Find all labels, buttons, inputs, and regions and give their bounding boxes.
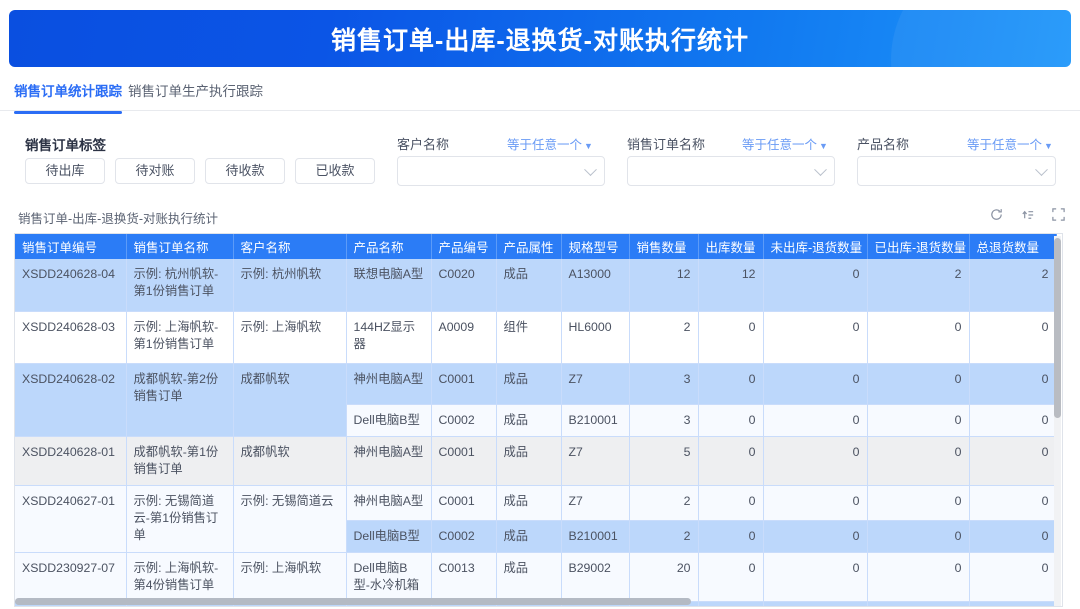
filter-operator-sales-order-name[interactable]: 等于任意一个▼ bbox=[742, 134, 828, 153]
cell-out-qty: 0 bbox=[698, 485, 763, 520]
cell-total-return: 0 bbox=[969, 311, 1056, 363]
cell-out-return: 0 bbox=[867, 485, 969, 520]
refresh-icon[interactable] bbox=[989, 207, 1004, 222]
col-order-name[interactable]: 销售订单名称 bbox=[126, 234, 233, 259]
table-body: XSDD240628-04示例: 杭州帆软-第1份销售订单示例: 杭州帆软联想电… bbox=[15, 259, 1056, 607]
cell-out-qty: 0 bbox=[698, 404, 763, 436]
cell-not-out-return: 0 bbox=[763, 259, 867, 311]
cell-product-no: C0020 bbox=[431, 259, 496, 311]
cell-out-return: 2 bbox=[867, 259, 969, 311]
cell-product-attr: 成品 bbox=[496, 404, 561, 436]
cell-product-attr: 成品 bbox=[496, 552, 561, 601]
cell-order-no: XSDD240628-03 bbox=[15, 311, 126, 363]
table-header-row: 销售订单编号 销售订单名称 客户名称 产品名称 产品编号 产品属性 规格型号 销… bbox=[15, 234, 1056, 259]
cell-order-no: XSDD240627-01 bbox=[15, 485, 126, 552]
cell-total-return: 0 bbox=[969, 520, 1056, 552]
cell-not-out-return: 0 bbox=[763, 436, 867, 485]
cell-spec: B210001 bbox=[561, 404, 629, 436]
cell-product-name: 神州电脑A型 bbox=[346, 485, 431, 520]
cell-product-attr: 组件 bbox=[496, 311, 561, 363]
tab-bar: 销售订单统计跟踪 销售订单生产执行跟踪 bbox=[0, 78, 1080, 111]
cell-product-name: 神州电脑A型 bbox=[346, 363, 431, 404]
table-row[interactable]: XSDD240628-02成都帆软-第2份销售订单成都帆软神州电脑A型C0001… bbox=[15, 363, 1056, 404]
cell-product-attr: 成品 bbox=[496, 259, 561, 311]
col-customer[interactable]: 客户名称 bbox=[233, 234, 346, 259]
cell-out-qty: 0 bbox=[698, 552, 763, 601]
cell-order-no: XSDD240628-01 bbox=[15, 436, 126, 485]
vertical-scrollbar[interactable] bbox=[1054, 236, 1061, 606]
cell-order-name: 成都帆软-第1份销售订单 bbox=[126, 436, 233, 485]
filter-label-customer-name: 客户名称 bbox=[397, 134, 449, 153]
cell-product-attr: 成品 bbox=[496, 436, 561, 485]
cell-sale-qty: 2 bbox=[629, 485, 698, 520]
cell-customer: 示例: 上海帆软 bbox=[233, 552, 346, 601]
col-spec[interactable]: 规格型号 bbox=[561, 234, 629, 259]
cell-order-name: 示例: 上海帆软-第4份销售订单 bbox=[126, 552, 233, 601]
cell-customer: 示例: 杭州帆软 bbox=[233, 259, 346, 311]
tag-button-group: 待出库 待对账 待收款 已收款 bbox=[25, 158, 375, 184]
sort-icon[interactable] bbox=[1020, 207, 1035, 222]
filter-operator-text: 等于任意一个 bbox=[967, 138, 1042, 152]
filter-operator-product-name[interactable]: 等于任意一个▼ bbox=[967, 134, 1053, 153]
cell-customer: 成都帆软 bbox=[233, 436, 346, 485]
cell-out-return: 0 bbox=[867, 363, 969, 404]
cell-not-out-return: 0 bbox=[763, 485, 867, 520]
cell-not-out-return: 0 bbox=[763, 311, 867, 363]
cell-total-return: 0 bbox=[969, 404, 1056, 436]
tag-button-pending-outbound[interactable]: 待出库 bbox=[25, 158, 105, 184]
cell-order-no: XSDD240628-04 bbox=[15, 259, 126, 311]
tab-sales-order-statistics[interactable]: 销售订单统计跟踪 bbox=[14, 82, 122, 110]
cell-order-name: 示例: 上海帆软-第1份销售订单 bbox=[126, 311, 233, 363]
cell-product-no: C0001 bbox=[431, 485, 496, 520]
cell-spec: Z7 bbox=[561, 436, 629, 485]
tag-button-paid[interactable]: 已收款 bbox=[295, 158, 375, 184]
page-banner: 销售订单-出库-退换货-对账执行统计 bbox=[9, 10, 1071, 67]
cell-order-name: 成都帆软-第2份销售订单 bbox=[126, 363, 233, 436]
cell-not-out-return: 0 bbox=[763, 552, 867, 601]
col-not-out-return[interactable]: 未出库-退货数量 bbox=[763, 234, 867, 259]
col-out-return[interactable]: 已出库-退货数量 bbox=[867, 234, 969, 259]
col-out-qty[interactable]: 出库数量 bbox=[698, 234, 763, 259]
horizontal-scrollbar[interactable] bbox=[15, 598, 1056, 605]
cell-out-qty: 12 bbox=[698, 259, 763, 311]
cell-product-attr: 成品 bbox=[496, 520, 561, 552]
cell-product-name: 神州电脑A型 bbox=[346, 436, 431, 485]
col-sale-qty[interactable]: 销售数量 bbox=[629, 234, 698, 259]
table-caption: 销售订单-出库-退换货-对账执行统计 bbox=[18, 208, 218, 227]
cell-product-name: Dell电脑B型-水冷机箱 bbox=[346, 552, 431, 601]
filter-select-sales-order-name[interactable] bbox=[627, 156, 835, 186]
cell-spec: A13000 bbox=[561, 259, 629, 311]
cell-not-out-return: 0 bbox=[763, 404, 867, 436]
chevron-down-icon bbox=[814, 163, 827, 176]
chevron-down-icon bbox=[584, 163, 597, 176]
chevron-down-icon bbox=[1035, 163, 1048, 176]
cell-out-return: 0 bbox=[867, 552, 969, 601]
cell-product-no: C0001 bbox=[431, 436, 496, 485]
cell-sale-qty: 2 bbox=[629, 520, 698, 552]
cell-total-return: 0 bbox=[969, 552, 1056, 601]
cell-sale-qty: 12 bbox=[629, 259, 698, 311]
cell-out-return: 0 bbox=[867, 436, 969, 485]
cell-customer: 示例: 上海帆软 bbox=[233, 311, 346, 363]
tab-sales-order-production[interactable]: 销售订单生产执行跟踪 bbox=[128, 82, 263, 110]
cell-customer: 示例: 无锡简道云 bbox=[233, 485, 346, 552]
chevron-down-icon: ▼ bbox=[819, 141, 828, 151]
data-grid[interactable]: 销售订单编号 销售订单名称 客户名称 产品名称 产品编号 产品属性 规格型号 销… bbox=[14, 233, 1063, 607]
cell-order-name: 示例: 杭州帆软-第1份销售订单 bbox=[126, 259, 233, 311]
cell-product-attr: 成品 bbox=[496, 485, 561, 520]
col-total-return[interactable]: 总退货数量 bbox=[969, 234, 1056, 259]
cell-spec: B29002 bbox=[561, 552, 629, 601]
cell-product-no: C0002 bbox=[431, 404, 496, 436]
chevron-down-icon: ▼ bbox=[584, 141, 593, 151]
page-title: 销售订单-出库-退换货-对账执行统计 bbox=[9, 21, 1071, 57]
cell-product-no: C0002 bbox=[431, 520, 496, 552]
cell-product-no: C0013 bbox=[431, 552, 496, 601]
cell-spec: HL6000 bbox=[561, 311, 629, 363]
cell-product-name: Dell电脑B型 bbox=[346, 520, 431, 552]
filter-bar: 销售订单标签 待出库 待对账 待收款 已收款 客户名称 等于任意一个▼ 销售订单… bbox=[0, 120, 1080, 200]
cell-order-no: XSDD230927-07 bbox=[15, 552, 126, 601]
table-row[interactable]: XSDD240627-01示例: 无锡简道云-第1份销售订单示例: 无锡简道云神… bbox=[15, 485, 1056, 520]
cell-sale-qty: 3 bbox=[629, 363, 698, 404]
cell-product-no: C0001 bbox=[431, 363, 496, 404]
cell-total-return: 0 bbox=[969, 485, 1056, 520]
cell-spec: Z7 bbox=[561, 363, 629, 404]
cell-sale-qty: 3 bbox=[629, 404, 698, 436]
cell-sale-qty: 20 bbox=[629, 552, 698, 601]
vertical-scroll-thumb[interactable] bbox=[1054, 238, 1061, 418]
filter-label-sales-order-name: 销售订单名称 bbox=[627, 134, 705, 153]
table-row[interactable]: XSDD230927-07示例: 上海帆软-第4份销售订单示例: 上海帆软Del… bbox=[15, 552, 1056, 601]
cell-not-out-return: 0 bbox=[763, 520, 867, 552]
cell-order-name: 示例: 无锡简道云-第1份销售订单 bbox=[126, 485, 233, 552]
cell-out-return: 0 bbox=[867, 311, 969, 363]
tag-button-pending-reconcile[interactable]: 待对账 bbox=[115, 158, 195, 184]
horizontal-scroll-thumb[interactable] bbox=[15, 598, 691, 605]
table-toolbar bbox=[989, 207, 1066, 222]
cell-spec: B210001 bbox=[561, 520, 629, 552]
cell-out-qty: 0 bbox=[698, 363, 763, 404]
cell-sale-qty: 2 bbox=[629, 311, 698, 363]
col-order-no[interactable]: 销售订单编号 bbox=[15, 234, 126, 259]
filter-label-product-name: 产品名称 bbox=[857, 134, 909, 153]
cell-total-return: 2 bbox=[969, 259, 1056, 311]
fullscreen-icon[interactable] bbox=[1051, 207, 1066, 222]
table-row[interactable]: XSDD240628-03示例: 上海帆软-第1份销售订单示例: 上海帆软144… bbox=[15, 311, 1056, 363]
cell-customer: 成都帆软 bbox=[233, 363, 346, 436]
cell-out-qty: 0 bbox=[698, 520, 763, 552]
filter-select-product-name[interactable] bbox=[857, 156, 1056, 186]
table-row[interactable]: XSDD240628-01成都帆软-第1份销售订单成都帆软神州电脑A型C0001… bbox=[15, 436, 1056, 485]
cell-out-return: 0 bbox=[867, 404, 969, 436]
filter-operator-text: 等于任意一个 bbox=[507, 138, 582, 152]
sales-order-tag-label: 销售订单标签 bbox=[25, 134, 106, 154]
cell-product-name: 144HZ显示器 bbox=[346, 311, 431, 363]
cell-product-attr: 成品 bbox=[496, 363, 561, 404]
app-root: 销售订单-出库-退换货-对账执行统计 销售订单统计跟踪 销售订单生产执行跟踪 销… bbox=[0, 0, 1080, 609]
filter-operator-customer-name[interactable]: 等于任意一个▼ bbox=[507, 134, 593, 153]
cell-out-return: 0 bbox=[867, 520, 969, 552]
table-row[interactable]: XSDD240628-04示例: 杭州帆软-第1份销售订单示例: 杭州帆软联想电… bbox=[15, 259, 1056, 311]
filter-operator-text: 等于任意一个 bbox=[742, 138, 817, 152]
cell-total-return: 0 bbox=[969, 363, 1056, 404]
col-product-no[interactable]: 产品编号 bbox=[431, 234, 496, 259]
cell-product-name: Dell电脑B型 bbox=[346, 404, 431, 436]
tag-button-pending-payment[interactable]: 待收款 bbox=[205, 158, 285, 184]
cell-out-qty: 0 bbox=[698, 311, 763, 363]
cell-not-out-return: 0 bbox=[763, 363, 867, 404]
cell-product-name: 联想电脑A型 bbox=[346, 259, 431, 311]
cell-sale-qty: 5 bbox=[629, 436, 698, 485]
filter-select-customer-name[interactable] bbox=[397, 156, 605, 186]
cell-total-return: 0 bbox=[969, 436, 1056, 485]
cell-out-qty: 0 bbox=[698, 436, 763, 485]
statistics-table: 销售订单编号 销售订单名称 客户名称 产品名称 产品编号 产品属性 规格型号 销… bbox=[15, 234, 1057, 607]
col-product-name[interactable]: 产品名称 bbox=[346, 234, 431, 259]
cell-spec: Z7 bbox=[561, 485, 629, 520]
cell-order-no: XSDD240628-02 bbox=[15, 363, 126, 436]
cell-product-no: A0009 bbox=[431, 311, 496, 363]
col-product-attr[interactable]: 产品属性 bbox=[496, 234, 561, 259]
chevron-down-icon: ▼ bbox=[1044, 141, 1053, 151]
